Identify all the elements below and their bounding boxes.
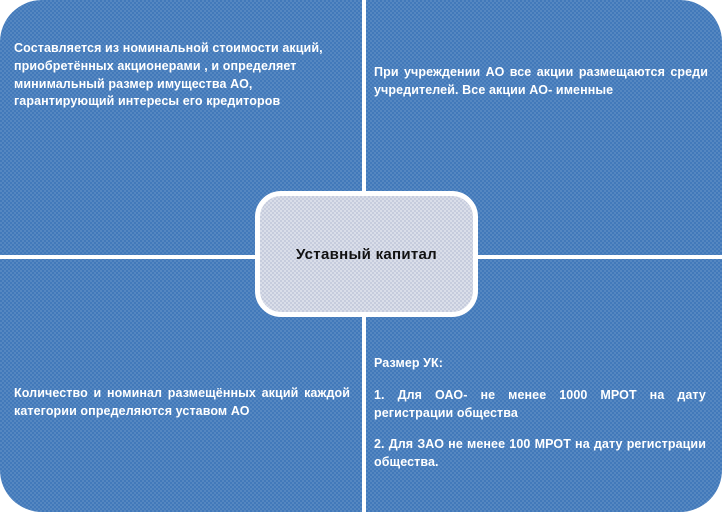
quadrant-top-right-text: При учреждении АО все акции размещаются … bbox=[374, 64, 708, 100]
quadrant-top-left: Составляется из номинальной стоимости ак… bbox=[14, 40, 350, 111]
diagram-root: Составляется из номинальной стоимости ак… bbox=[0, 0, 722, 512]
quadrant-top-right: При учреждении АО все акции размещаются … bbox=[374, 64, 708, 100]
quadrant-top-left-text: Составляется из номинальной стоимости ак… bbox=[14, 40, 350, 111]
quadrant-bottom-left-text: Количество и номинал размещённых акций к… bbox=[14, 385, 350, 421]
center-node-label: Уставный капитал bbox=[296, 246, 437, 263]
diagram-panel: Составляется из номинальной стоимости ак… bbox=[0, 0, 722, 512]
center-node: Уставный капитал bbox=[255, 191, 478, 317]
quadrant-bottom-left: Количество и номинал размещённых акций к… bbox=[14, 385, 350, 421]
quadrant-bottom-right: Размер УК: 1. Для ОАО- не менее 1000 МРО… bbox=[374, 355, 706, 472]
quadrant-bottom-right-item-1: 1. Для ОАО- не менее 1000 МРОТ на дату р… bbox=[374, 387, 706, 423]
quadrant-bottom-right-heading: Размер УК: bbox=[374, 355, 706, 373]
quadrant-bottom-right-item-2: 2. Для ЗАО не менее 100 МРОТ на дату рег… bbox=[374, 436, 706, 472]
